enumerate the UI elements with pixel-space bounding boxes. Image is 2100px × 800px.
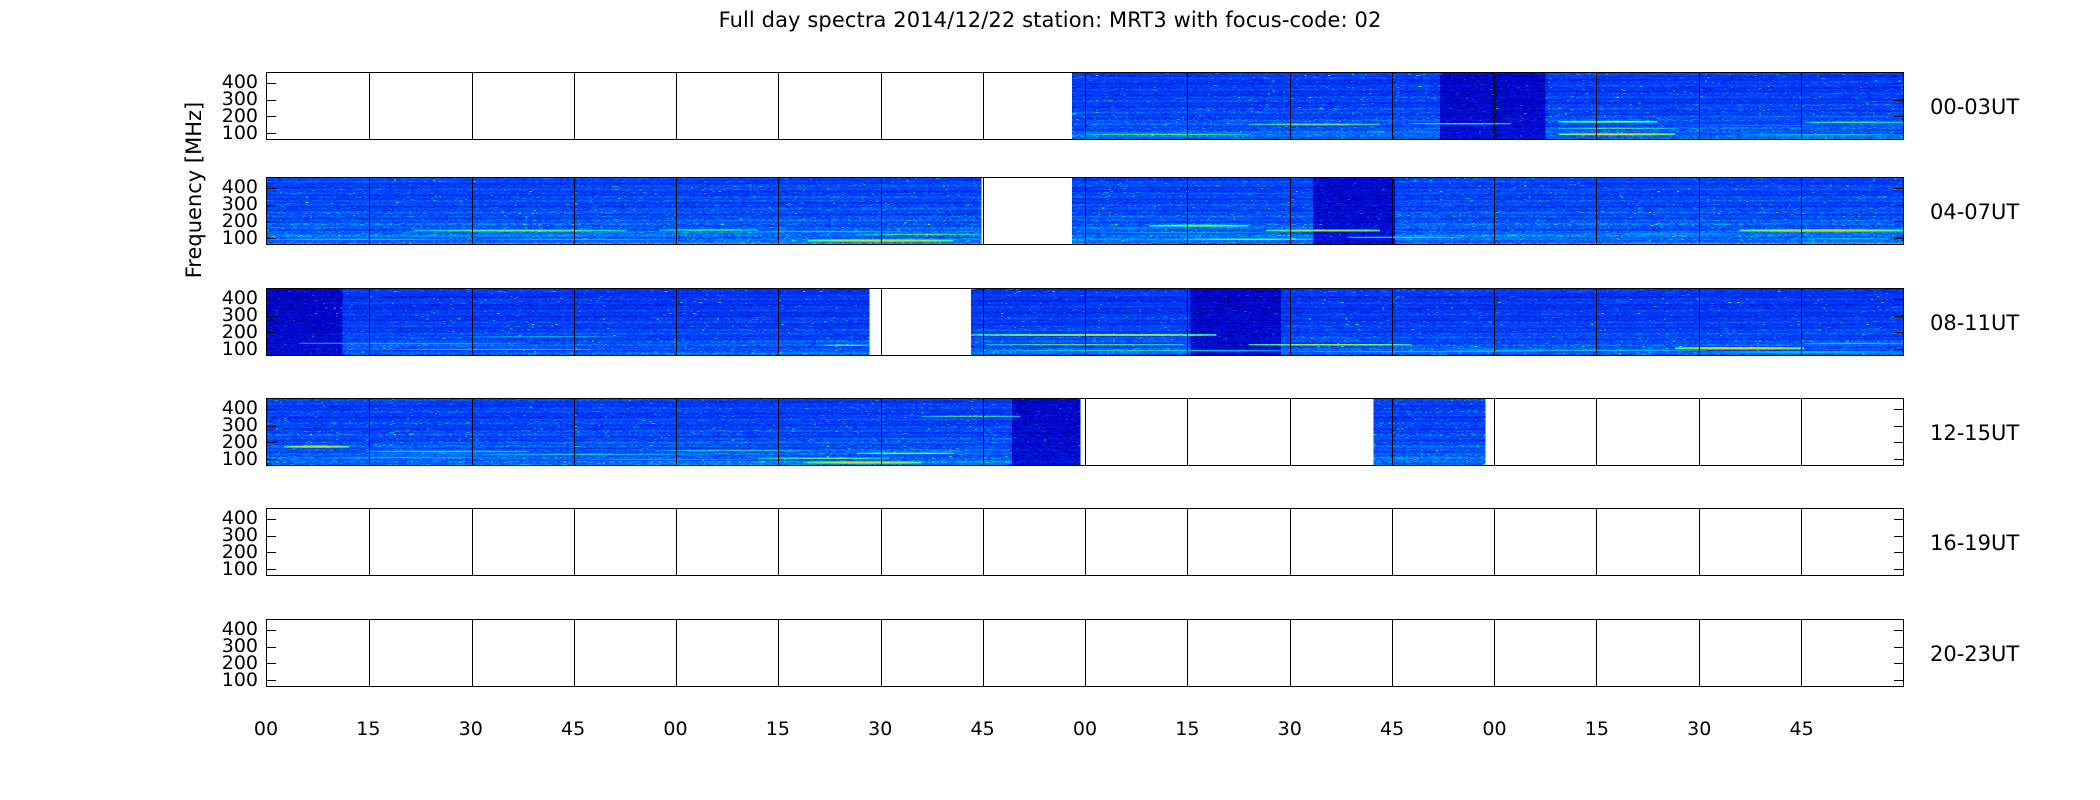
y-axis-tick-mark [1894,442,1903,443]
x-axis-tick-label: 15 [1175,720,1199,739]
x-axis-tick-mark [1596,73,1597,139]
x-axis-tick-mark [472,73,473,139]
x-axis-tick-mark [881,73,882,139]
x-axis-tick-mark [1801,289,1802,355]
y-axis-tick-label: 100 [198,340,258,359]
x-axis-tick-mark [1801,509,1802,575]
y-axis-tick-label-group: 400300200100 [196,177,258,245]
x-axis-tick-label: 00 [1073,720,1097,739]
x-axis-tick-mark [1494,73,1495,139]
x-axis-tick-label: 00 [663,720,687,739]
y-axis-tick-mark [267,426,276,427]
x-axis-tick-mark [574,73,575,139]
x-axis-tick-mark [1801,399,1802,465]
spectrogram-panel[interactable] [266,72,1904,140]
row-time-label: 00-03UT [1930,95,2019,119]
y-axis-tick-mark [1894,519,1903,520]
y-axis-tick-mark [267,83,276,84]
y-axis-tick-mark [267,409,276,410]
x-axis-tick-mark [1699,620,1700,686]
x-axis-tick-mark [574,289,575,355]
x-axis-tick-mark [1290,399,1291,465]
x-axis-tick-mark [778,399,779,465]
spectrogram-panel[interactable] [266,619,1904,687]
x-axis-tick-mark [1085,620,1086,686]
row-time-label: 12-15UT [1930,421,2019,445]
x-axis-tick-mark [676,509,677,575]
x-axis-tick-mark [1290,509,1291,575]
spectrogram-panel[interactable] [266,398,1904,466]
y-axis-tick-mark [267,569,276,570]
y-axis-tick-mark [1894,100,1903,101]
spectrogram-row-20-23ut[interactable] [266,619,1904,687]
x-axis-tick-mark [1392,178,1393,244]
x-axis-tick-mark [983,73,984,139]
y-axis-tick-mark [1894,552,1903,553]
x-axis-tick-mark [1596,178,1597,244]
x-axis-tick-mark [1187,509,1188,575]
x-axis-tick-mark [1187,620,1188,686]
x-axis-tick-mark [1699,73,1700,139]
y-axis-tick-mark [1894,205,1903,206]
y-axis-tick-mark [267,133,276,134]
x-axis-tick-label: 30 [459,720,483,739]
x-axis-tick-label: 15 [356,720,380,739]
x-axis-tick-mark [369,178,370,244]
y-axis-tick-mark [267,205,276,206]
x-axis-tick-mark [1494,289,1495,355]
x-axis-tick-mark [369,509,370,575]
x-axis-tick-mark [778,620,779,686]
x-axis-tick-mark [1494,509,1495,575]
row-time-label: 16-19UT [1930,531,2019,555]
y-axis-tick-mark [267,316,276,317]
y-axis-tick-mark [1894,238,1903,239]
x-axis-tick-mark [369,620,370,686]
x-axis-tick-mark [1187,289,1188,355]
spectrogram-row-16-19ut[interactable] [266,508,1904,576]
y-axis-tick-mark [1894,680,1903,681]
y-axis-tick-mark [1894,663,1903,664]
x-axis-tick-mark [983,399,984,465]
x-axis-tick-mark [1085,73,1086,139]
row-time-label: 20-23UT [1930,642,2019,666]
x-axis-tick-mark [778,289,779,355]
y-axis-tick-label: 100 [198,229,258,248]
x-axis-tick-mark [1392,73,1393,139]
y-axis-tick-mark [267,519,276,520]
spectrogram-panel[interactable] [266,177,1904,245]
x-axis-tick-mark [369,289,370,355]
y-axis-tick-mark [267,100,276,101]
y-axis-tick-mark [1894,316,1903,317]
x-axis-tick-mark [574,620,575,686]
x-axis-tick-mark [676,620,677,686]
spectrogram-row-12-15ut[interactable] [266,398,1904,466]
x-axis-tick-mark [1801,73,1802,139]
x-axis-tick-mark [1392,620,1393,686]
x-axis-tick-mark [881,289,882,355]
y-axis-tick-label: 100 [198,671,258,690]
y-axis-tick-mark [1894,133,1903,134]
x-axis-tick-mark [1085,399,1086,465]
y-axis-tick-mark [1894,299,1903,300]
spectrogram-panel[interactable] [266,508,1904,576]
row-time-label: 08-11UT [1930,311,2019,335]
y-axis-tick-mark [1894,426,1903,427]
x-axis-tick-mark [1290,620,1291,686]
spectrogram-row-00-03ut[interactable] [266,72,1904,140]
x-axis-tick-mark [983,509,984,575]
x-axis-tick-label: 30 [1278,720,1302,739]
x-axis-tick-mark [472,289,473,355]
x-axis-tick-mark [1187,399,1188,465]
x-axis-tick-mark [1494,178,1495,244]
x-axis-tick-mark [778,178,779,244]
x-axis-tick-mark [1392,509,1393,575]
x-axis-tick-mark [1494,399,1495,465]
y-axis-tick-mark [1894,83,1903,84]
y-axis-tick-label-group: 400300200100 [196,508,258,576]
x-axis-tick-mark [369,399,370,465]
x-axis-tick-mark [676,289,677,355]
x-axis-tick-mark [1187,178,1188,244]
spectrogram-figure: Full day spectra 2014/12/22 station: MRT… [0,0,2100,800]
x-axis-tick-mark [1085,178,1086,244]
y-axis-tick-mark [267,188,276,189]
x-axis-tick-mark [369,73,370,139]
x-axis-tick-mark [472,399,473,465]
x-axis-tick-mark [1596,289,1597,355]
y-axis-tick-mark [267,647,276,648]
x-axis-tick-mark [1699,289,1700,355]
x-axis-tick-mark [1699,178,1700,244]
x-axis-tick-mark [1085,509,1086,575]
x-axis-tick-mark [983,178,984,244]
spectrogram-row-08-11ut[interactable] [266,288,1904,356]
x-axis-tick-mark [1699,399,1700,465]
y-axis-tick-mark [267,349,276,350]
y-axis-tick-mark [1894,536,1903,537]
x-axis-tick-mark [983,289,984,355]
y-axis-tick-mark [1894,221,1903,222]
y-axis-tick-mark [267,299,276,300]
x-axis-tick-mark [1596,399,1597,465]
y-axis-tick-label-group: 400300200100 [196,398,258,466]
y-axis-tick-mark [267,221,276,222]
y-axis-tick-mark [267,238,276,239]
x-axis-tick-mark [881,178,882,244]
x-axis-tick-mark [1596,509,1597,575]
x-axis-tick-mark [574,509,575,575]
x-axis-tick-mark [676,178,677,244]
x-axis-tick-mark [1699,509,1700,575]
x-axis-tick-label: 30 [868,720,892,739]
x-axis-tick-mark [1494,620,1495,686]
y-axis-tick-mark [267,116,276,117]
x-axis-tick-mark [1392,399,1393,465]
x-axis-tick-mark [676,399,677,465]
spectrogram-panel[interactable] [266,288,1904,356]
x-axis-tick-labels: 00153045001530450015304500153045 [266,718,1904,748]
x-axis-tick-mark [472,178,473,244]
y-axis-tick-mark [1894,569,1903,570]
x-axis-tick-mark [1801,178,1802,244]
x-axis-tick-label: 45 [1380,720,1404,739]
y-axis-tick-label-group: 400300200100 [196,288,258,356]
x-axis-tick-mark [472,509,473,575]
y-axis-tick-mark [1894,647,1903,648]
page-title: Full day spectra 2014/12/22 station: MRT… [0,8,2100,32]
x-axis-tick-mark [881,399,882,465]
x-axis-tick-label: 15 [766,720,790,739]
x-axis-tick-mark [1085,289,1086,355]
x-axis-tick-mark [1290,289,1291,355]
y-axis-tick-mark [1894,630,1903,631]
x-axis-tick-label: 00 [1482,720,1506,739]
x-axis-tick-mark [1596,620,1597,686]
x-axis-tick-mark [472,620,473,686]
y-axis-tick-mark [1894,349,1903,350]
y-axis-tick-label: 100 [198,450,258,469]
y-axis-tick-mark [267,459,276,460]
x-axis-tick-mark [778,509,779,575]
x-axis-tick-label: 45 [561,720,585,739]
y-axis-tick-mark [1894,116,1903,117]
x-axis-tick-mark [574,178,575,244]
x-axis-tick-mark [778,73,779,139]
x-axis-tick-mark [881,509,882,575]
x-axis-tick-label: 45 [971,720,995,739]
y-axis-tick-mark [1894,409,1903,410]
x-axis-tick-mark [574,399,575,465]
row-time-label: 04-07UT [1930,200,2019,224]
spectrogram-row-04-07ut[interactable] [266,177,1904,245]
y-axis-tick-mark [267,442,276,443]
y-axis-tick-mark [1894,332,1903,333]
x-axis-tick-label: 45 [1790,720,1814,739]
x-axis-tick-mark [881,620,882,686]
x-axis-tick-mark [1801,620,1802,686]
y-axis-tick-mark [267,536,276,537]
x-axis-tick-label: 30 [1687,720,1711,739]
x-axis-tick-mark [983,620,984,686]
y-axis-tick-label-group: 400300200100 [196,619,258,687]
y-axis-tick-mark [267,680,276,681]
x-axis-tick-label: 15 [1585,720,1609,739]
y-axis-tick-mark [1894,188,1903,189]
y-axis-tick-mark [267,552,276,553]
x-axis-tick-mark [676,73,677,139]
y-axis-tick-label: 100 [198,560,258,579]
y-axis-tick-mark [1894,459,1903,460]
y-axis-tick-label: 100 [198,124,258,143]
x-axis-tick-mark [1290,178,1291,244]
y-axis-tick-mark [267,630,276,631]
y-axis-tick-label-group: 400300200100 [196,72,258,140]
y-axis-tick-mark [267,332,276,333]
x-axis-tick-mark [1392,289,1393,355]
x-axis-tick-mark [1187,73,1188,139]
x-axis-tick-label: 00 [254,720,278,739]
y-axis-tick-mark [267,663,276,664]
x-axis-tick-mark [1290,73,1291,139]
